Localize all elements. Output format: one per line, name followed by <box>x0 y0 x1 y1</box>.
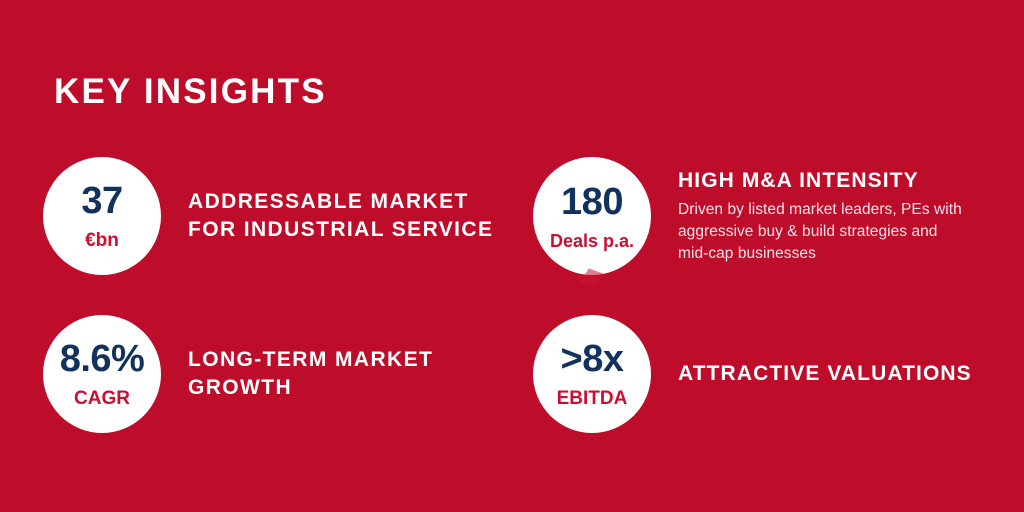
insight-item-attractive-valuations: >8x EBITDA ATTRACTIVE VALUATIONS <box>533 315 972 433</box>
stat-unit: CAGR <box>74 389 130 408</box>
stat-unit: EBITDA <box>557 389 628 408</box>
speech-bubble-tail-icon <box>580 268 604 287</box>
stat-value: 37 <box>81 182 122 220</box>
insight-text-block: LONG-TERM MARKET GROWTH <box>188 346 433 402</box>
stat-value: 180 <box>561 183 623 221</box>
insight-text-block: ATTRACTIVE VALUATIONS <box>678 360 972 388</box>
insight-item-long-term-growth: 8.6% CAGR LONG-TERM MARKET GROWTH <box>43 315 433 433</box>
insight-headline: LONG-TERM MARKET GROWTH <box>188 346 433 402</box>
stat-value: 8.6% <box>60 340 145 378</box>
insight-text-block: ADDRESSABLE MARKET FOR INDUSTRIAL SERVIC… <box>188 188 493 244</box>
insight-headline: ADDRESSABLE MARKET FOR INDUSTRIAL SERVIC… <box>188 188 493 244</box>
key-insights-slide: KEY INSIGHTS 37 €bn ADDRESSABLE MARKET F… <box>0 0 1024 512</box>
stat-unit: Deals p.a. <box>550 232 634 250</box>
stat-badge: 37 €bn <box>43 157 161 275</box>
stat-unit: €bn <box>85 231 119 250</box>
stat-value: >8x <box>561 340 624 378</box>
insight-item-ma-intensity: 180 Deals p.a. HIGH M&A INTENSITY Driven… <box>533 157 962 275</box>
insight-text-block: HIGH M&A INTENSITY Driven by listed mark… <box>678 167 962 266</box>
page-title: KEY INSIGHTS <box>54 74 327 109</box>
stat-badge: 180 Deals p.a. <box>533 157 651 275</box>
stat-badge: 8.6% CAGR <box>43 315 161 433</box>
insight-item-addressable-market: 37 €bn ADDRESSABLE MARKET FOR INDUSTRIAL… <box>43 157 493 275</box>
stat-badge: >8x EBITDA <box>533 315 651 433</box>
insight-headline: HIGH M&A INTENSITY <box>678 167 962 195</box>
insight-body: Driven by listed market leaders, PEs wit… <box>678 199 962 265</box>
insight-headline: ATTRACTIVE VALUATIONS <box>678 360 972 388</box>
